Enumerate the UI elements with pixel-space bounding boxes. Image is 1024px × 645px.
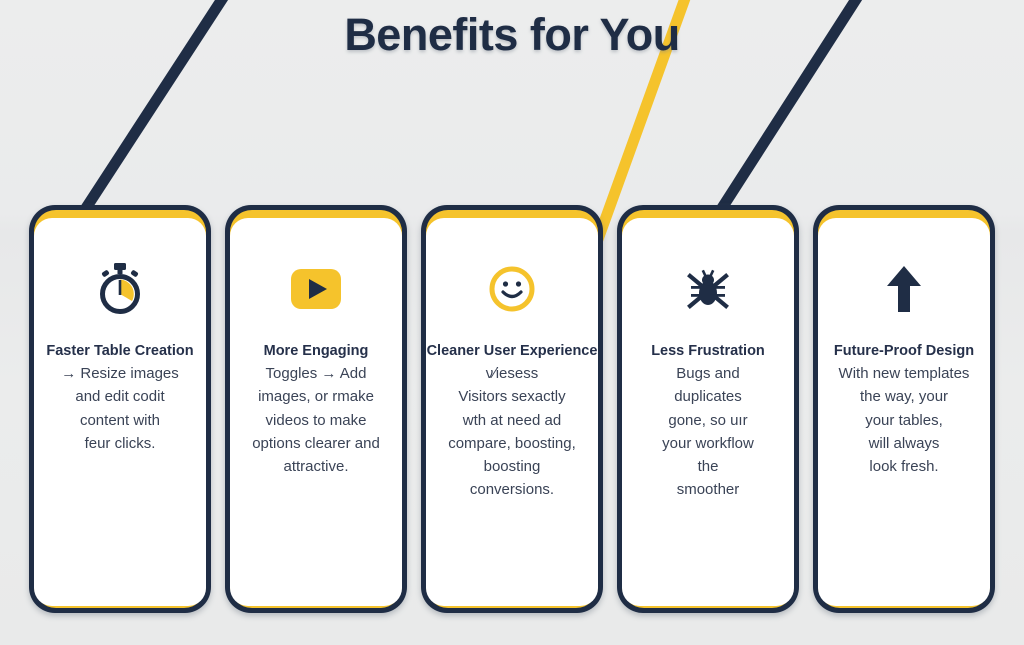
- card-body-text: Bugs and duplicates gone, so uır your wo…: [662, 362, 754, 502]
- stopwatch-icon: [93, 262, 147, 316]
- card-body-text: Toggles → Add images, or rmake videos to…: [252, 362, 380, 478]
- card-heading: Future-Proof Design: [834, 342, 974, 360]
- card-heading: Cleaner User Experience: [427, 342, 598, 360]
- card-content: More Engaging Toggles → Add images, or r…: [230, 218, 402, 606]
- page-title: Benefits for You: [0, 8, 1024, 62]
- card-heading: Less Frustration: [651, 342, 765, 360]
- smiley-face-icon: [485, 262, 539, 316]
- bug-crossed-out-icon: [681, 262, 735, 316]
- benefit-card[interactable]: Faster Table Creation → Resize images an…: [29, 205, 211, 613]
- card-body-text: ν⁄iesess Visitors sexactly wth at need a…: [448, 362, 576, 502]
- card-body-text: With new templates the way, your your ta…: [839, 362, 970, 478]
- benefit-card[interactable]: Cleaner User Experience ν⁄iesess Visitor…: [421, 205, 603, 613]
- card-content: Less Frustration Bugs and duplicates gon…: [622, 218, 794, 606]
- benefit-card[interactable]: Future-Proof Design With new templates t…: [813, 205, 995, 613]
- play-button-icon: [289, 262, 343, 316]
- card-content: Faster Table Creation → Resize images an…: [34, 218, 206, 606]
- card-heading: Faster Table Creation: [46, 342, 193, 360]
- card-content: Cleaner User Experience ν⁄iesess Visitor…: [426, 218, 598, 606]
- page-title-wrapper: Benefits for You: [0, 8, 1024, 62]
- benefit-card[interactable]: Less Frustration Bugs and duplicates gon…: [617, 205, 799, 613]
- card-content: Future-Proof Design With new templates t…: [818, 218, 990, 606]
- up-arrow-icon: [877, 262, 931, 316]
- card-body-text: → Resize images and edit codit content w…: [61, 362, 179, 455]
- benefit-card[interactable]: More Engaging Toggles → Add images, or r…: [225, 205, 407, 613]
- card-heading: More Engaging: [264, 342, 369, 360]
- benefit-card-row: Faster Table Creation → Resize images an…: [29, 205, 995, 613]
